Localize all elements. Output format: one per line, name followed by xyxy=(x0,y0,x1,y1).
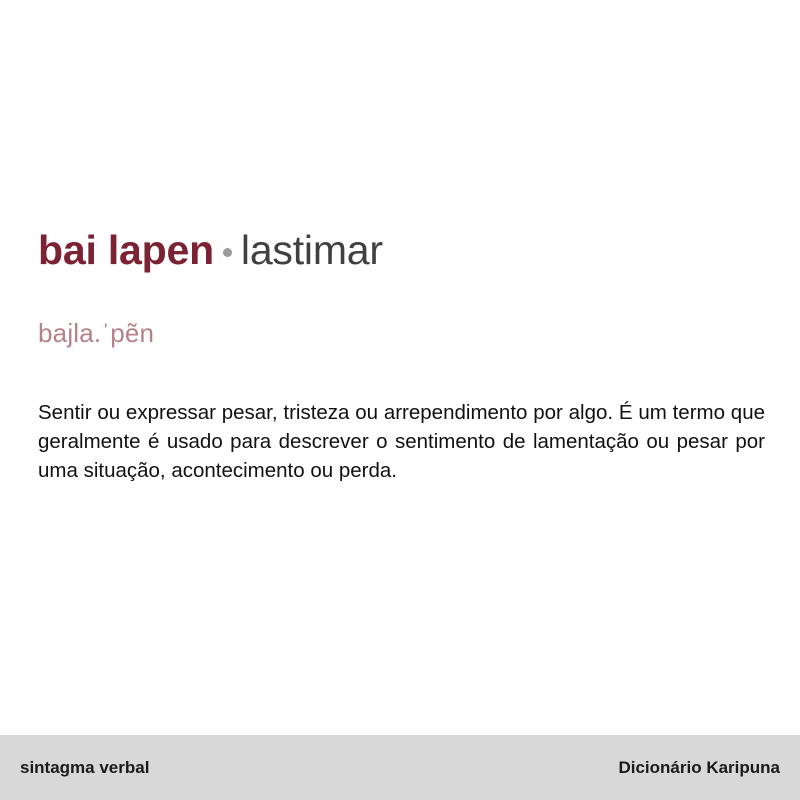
headword: bai lapen xyxy=(38,227,214,273)
part-of-speech-label: sintagma verbal xyxy=(20,758,149,778)
dictionary-source-label: Dicionário Karipuna xyxy=(618,758,780,778)
entry-block: bai lapenlastimar bajla.ˈpẽn Sentir ou e… xyxy=(38,228,764,485)
pronunciation: bajla.ˈpẽn xyxy=(38,273,764,349)
footer-bar: sintagma verbal Dicionário Karipuna xyxy=(0,735,800,800)
dictionary-entry-card: bai lapenlastimar bajla.ˈpẽn Sentir ou e… xyxy=(0,0,800,800)
definition-text: Sentir ou expressar pesar, tristeza ou a… xyxy=(38,349,765,485)
entry-headline: bai lapenlastimar xyxy=(38,228,764,273)
separator-dot-icon xyxy=(223,248,232,257)
translation: lastimar xyxy=(241,227,383,273)
